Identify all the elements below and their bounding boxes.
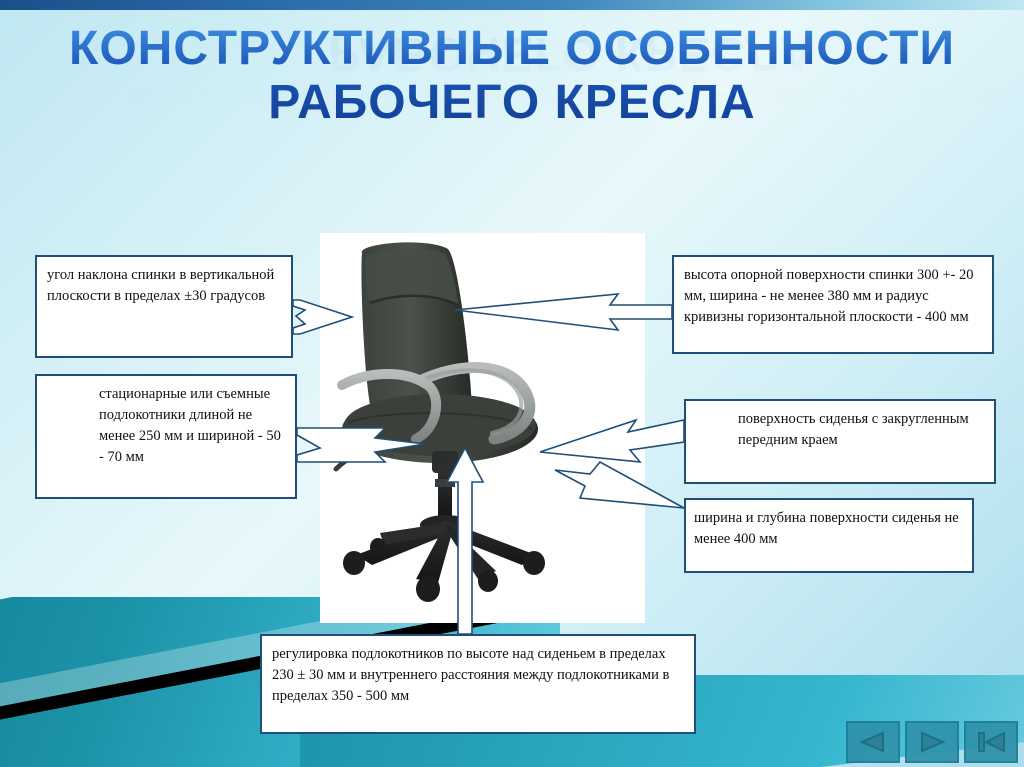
- armrest-adjustment-callout: регулировка подлокотников по высоте над …: [260, 634, 696, 734]
- page-title: Конструктивные особенности рабочего крес…: [0, 22, 1024, 130]
- slide: Конструктивные особенности рабочего крес…: [0, 0, 1024, 767]
- office-chair-image: [320, 233, 645, 623]
- top-accent-band: [0, 0, 1024, 10]
- seat-size-callout: ширина и глубина поверхности сиденья не …: [684, 498, 974, 573]
- seat-size-text: ширина и глубина поверхности сиденья не …: [694, 508, 962, 550]
- skip-to-end-icon: [975, 730, 1007, 754]
- triangle-right-icon: [917, 730, 947, 754]
- seat-front-edge-text: поверхность сиденья с закругленным перед…: [738, 409, 984, 451]
- backrest-tilt-callout: угол наклона спинки в вертикальной плоск…: [35, 255, 293, 358]
- slide-navigation: [846, 721, 1018, 763]
- triangle-left-icon: [858, 730, 888, 754]
- armrest-size-callout: стационарные или съемные подлокотники дл…: [35, 374, 297, 499]
- page-title-wrap: Конструктивные особенности рабочего крес…: [0, 22, 1024, 130]
- armrest-adjustment-text: регулировка подлокотников по высоте над …: [272, 644, 684, 707]
- previous-slide-button[interactable]: [846, 721, 900, 763]
- backrest-height-text: высота опорной поверхности спинки 300 +-…: [684, 265, 982, 328]
- backrest-tilt-text: угол наклона спинки в вертикальной плоск…: [47, 265, 281, 307]
- armrest-size-text: стационарные или съемные подлокотники дл…: [99, 384, 285, 468]
- seat-front-edge-callout: поверхность сиденья с закругленным перед…: [684, 399, 996, 484]
- next-slide-button[interactable]: [905, 721, 959, 763]
- last-slide-button[interactable]: [964, 721, 1018, 763]
- backrest-height-callout: высота опорной поверхности спинки 300 +-…: [672, 255, 994, 354]
